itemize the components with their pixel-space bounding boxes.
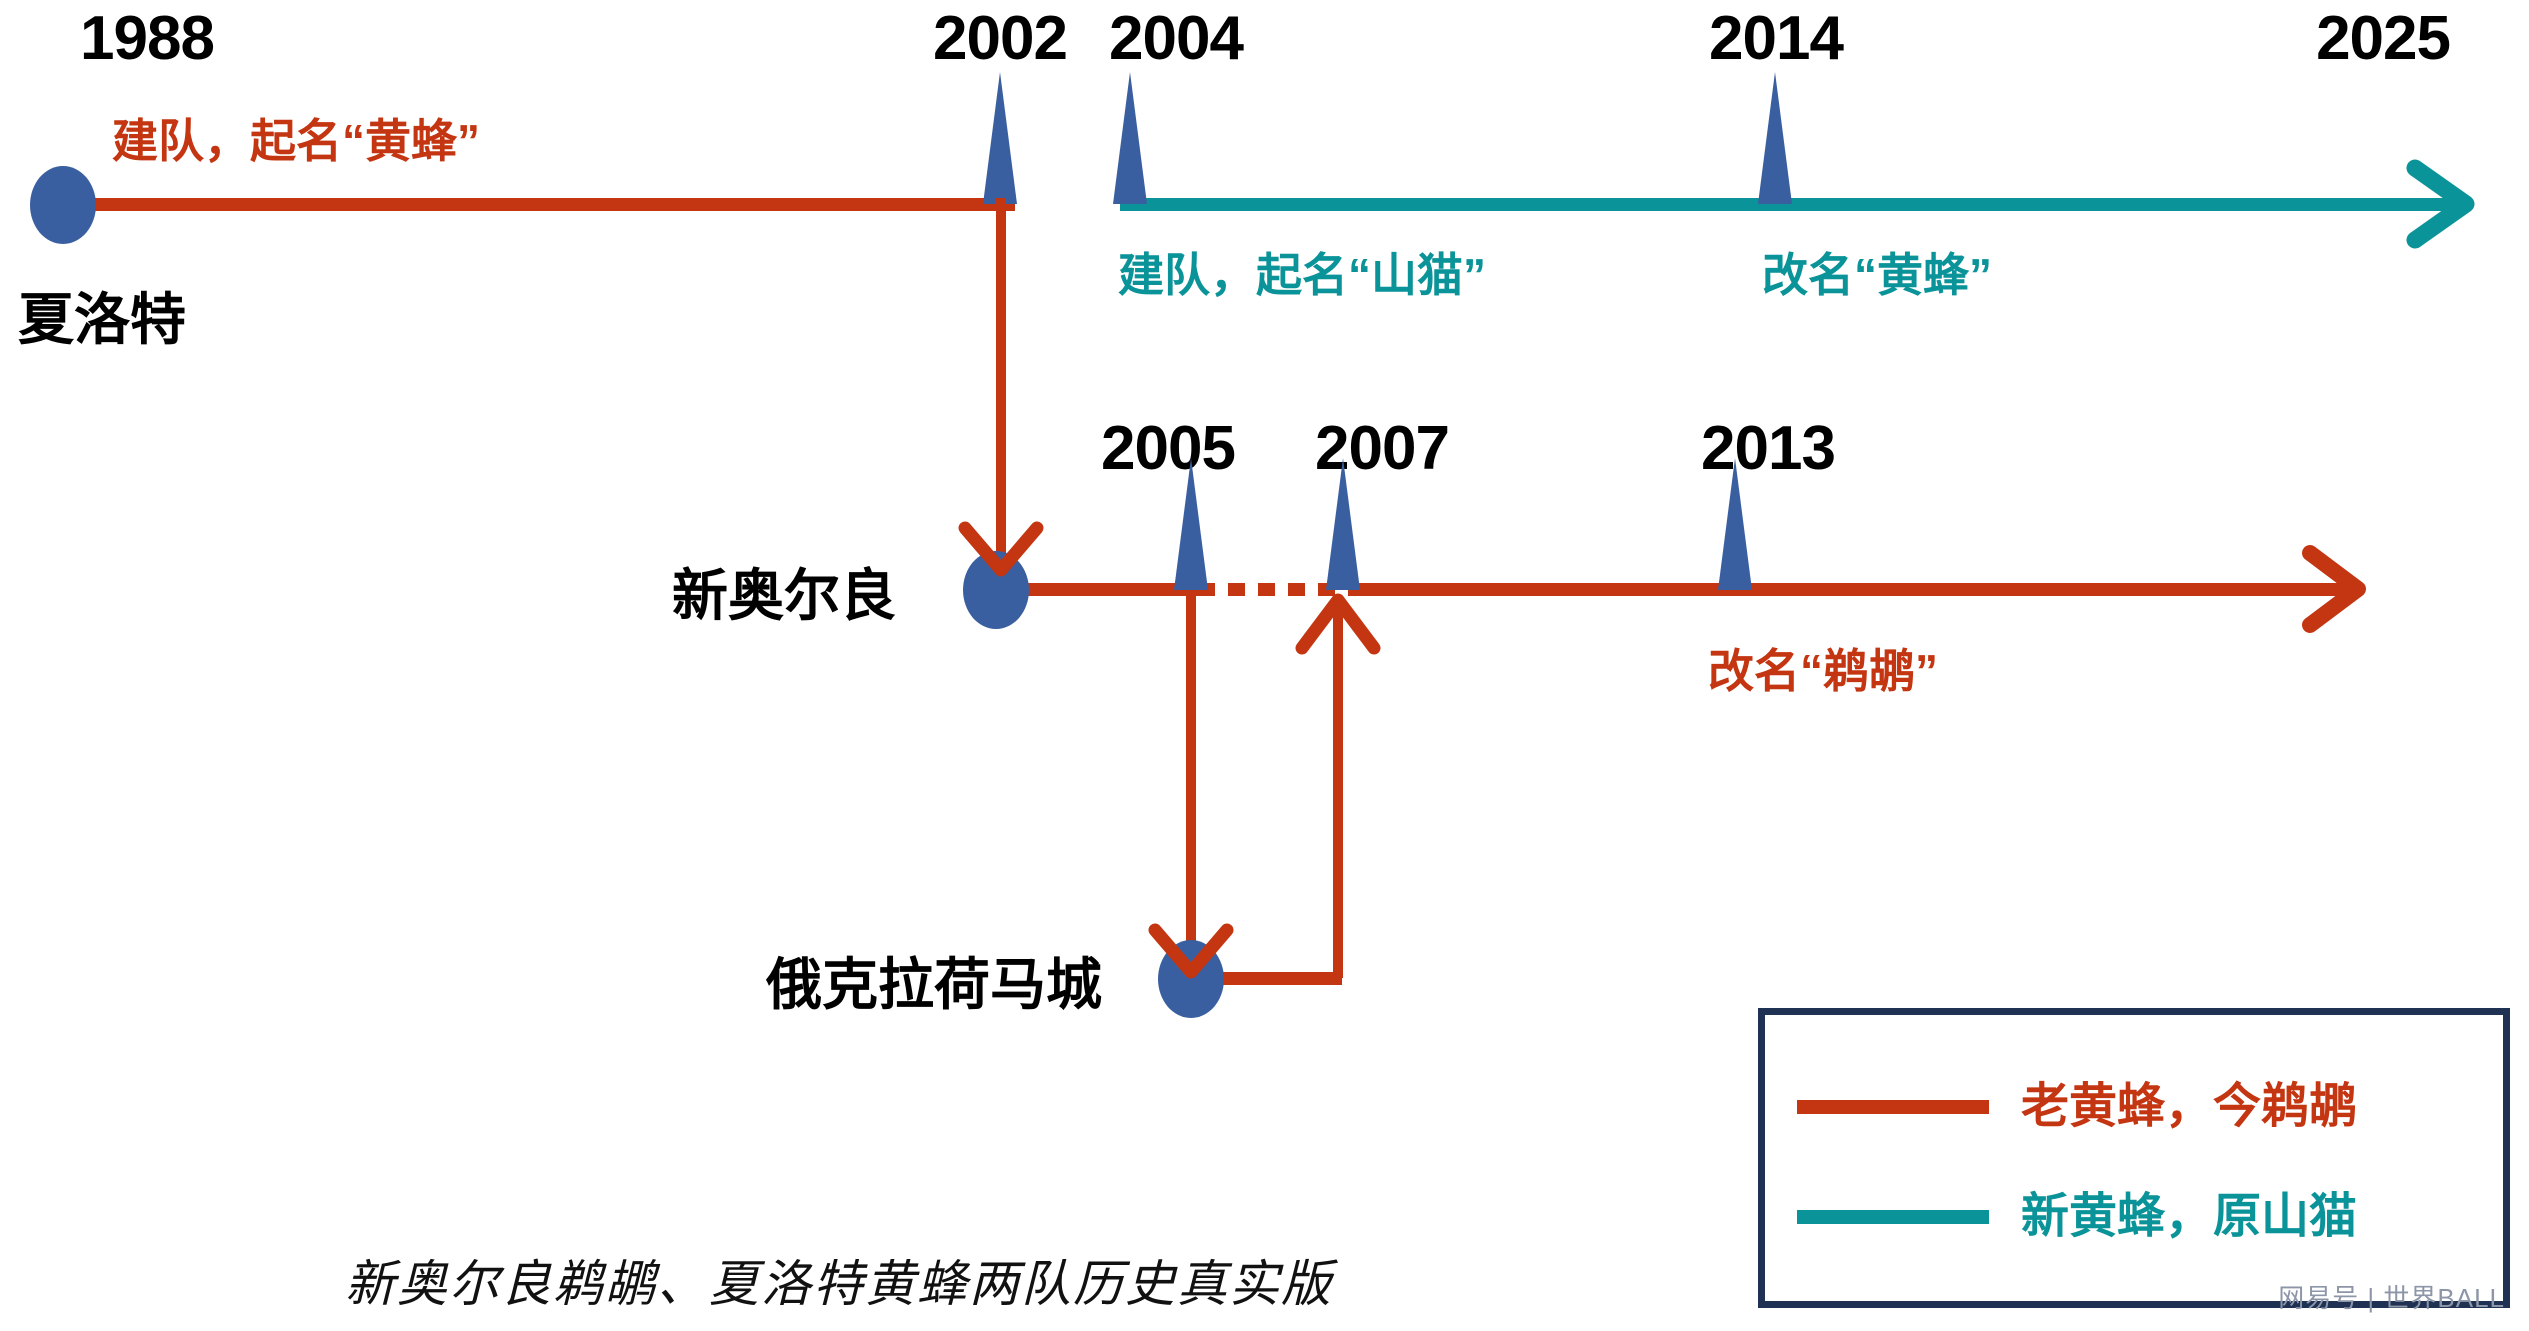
node-new-orleans <box>963 551 1029 629</box>
year-label-1988: 1988 <box>80 8 214 70</box>
city-label-new-orleans: 新奥尔良 <box>672 568 896 624</box>
marker-2007 <box>1326 458 1360 590</box>
annotation-founded-bobcats: 建队，起名“山猫” <box>1118 252 1486 298</box>
charlotte-hornets-timeline-bar <box>70 198 1015 211</box>
connector-new-orleans-to-okc <box>1186 590 1196 970</box>
node-oklahoma-city <box>1158 940 1224 1018</box>
legend-label-teal: 新黄蜂，原山猫 <box>2021 1193 2357 1241</box>
marker-2002 <box>983 72 1017 204</box>
watermark: 网易号 | 世界BALL <box>2278 1278 2505 1315</box>
legend-box: 老黄蜂，今鹈鹕 新黄蜂，原山猫 <box>1758 1008 2510 1308</box>
year-label-2005: 2005 <box>1101 418 1235 480</box>
city-label-oklahoma-city: 俄克拉荷马城 <box>766 957 1102 1013</box>
node-charlotte-1988 <box>30 166 96 244</box>
legend-item-teal: 新黄蜂，原山猫 <box>1797 1193 2487 1241</box>
year-label-2004: 2004 <box>1109 8 1243 70</box>
marker-2005 <box>1174 458 1208 590</box>
annotation-founded-hornets: 建队，起名“黄蜂” <box>112 118 480 164</box>
connector-okc-to-new-orleans <box>1333 598 1343 978</box>
marker-2013 <box>1718 458 1752 590</box>
legend-swatch-teal <box>1797 1210 1989 1224</box>
legend-swatch-orange <box>1797 1100 1989 1114</box>
marker-2004 <box>1113 72 1147 204</box>
timeline-diagram: 1988 2002 2004 2014 2025 建队，起名“黄蜂” 建队，起名… <box>0 0 2529 1331</box>
year-label-2014: 2014 <box>1709 8 1843 70</box>
legend-label-orange: 老黄蜂，今鹈鹕 <box>2021 1083 2357 1131</box>
annotation-renamed-pelicans: 改名“鹈鹕” <box>1708 648 1938 694</box>
connector-charlotte-to-new-orleans <box>996 198 1006 564</box>
annotation-renamed-hornets: 改名“黄蜂” <box>1762 252 1992 298</box>
marker-2014 <box>1758 72 1792 204</box>
year-label-2025: 2025 <box>2316 8 2450 70</box>
legend-item-orange: 老黄蜂，今鹈鹕 <box>1797 1083 2487 1131</box>
city-label-charlotte: 夏洛特 <box>18 292 186 348</box>
year-label-2002: 2002 <box>933 8 1067 70</box>
diagram-caption: 新奥尔良鹈鹕、夏洛特黄蜂两队历史真实版 <box>345 1244 1333 1316</box>
